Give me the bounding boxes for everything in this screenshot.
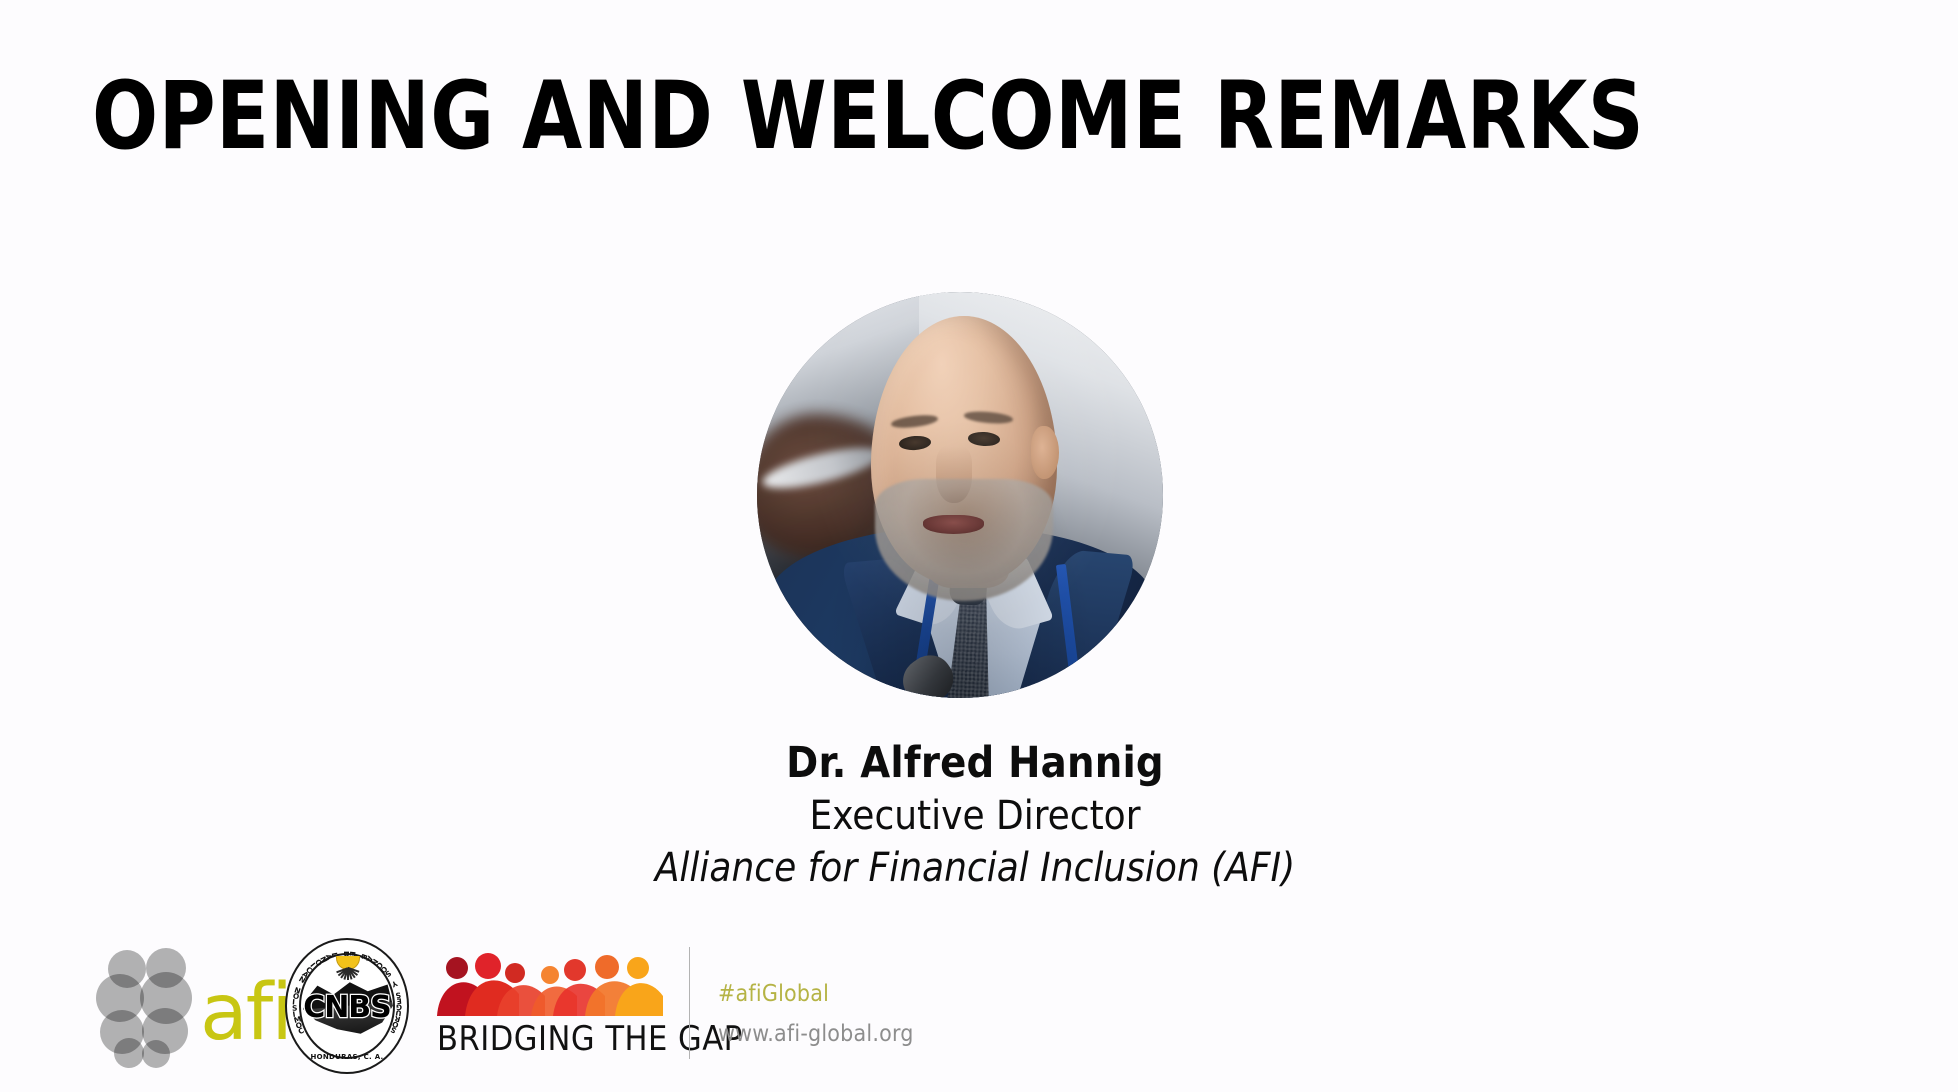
cnbs-ring-char: S	[383, 969, 393, 979]
footer-contact: #afiGlobal www.afi-global.org	[718, 977, 914, 1051]
bridging-the-gap-logo: BRIDGING THE GAP	[435, 950, 665, 1072]
speaker-details: Dr. Alfred Hannig Executive Director All…	[360, 738, 1590, 892]
people-bridge-icon	[435, 950, 665, 1018]
speaker-portrait	[757, 292, 1163, 698]
speaker-photo	[757, 292, 1163, 698]
photo-mouth	[923, 515, 984, 534]
slide-footer: afi COMISIÓN NACIONAL DE BANCOS Y SEGURO…	[0, 932, 1958, 1092]
afi-logo-mark-icon	[96, 948, 200, 1073]
bridging-the-gap-wordmark: BRIDGING THE GAP	[437, 1022, 743, 1056]
footer-website-url[interactable]: www.afi-global.org	[718, 1017, 914, 1052]
speaker-role: Executive Director	[360, 792, 1590, 841]
cnbs-logo: COMISIÓN NACIONAL DE BANCOS Y SEGUROS CN…	[285, 938, 409, 1074]
speaker-organization: Alliance for Financial Inclusion (AFI)	[360, 844, 1590, 893]
speaker-name: Dr. Alfred Hannig	[360, 738, 1590, 789]
cnbs-monogram: CNBS	[285, 990, 409, 1025]
presentation-slide: OPENING AND WELCOME REMARKS	[0, 0, 1958, 1092]
footer-hashtag: #afiGlobal	[718, 977, 914, 1012]
page-title: OPENING AND WELCOME REMARKS	[92, 68, 1644, 167]
cnbs-ring-char: Y	[390, 979, 399, 989]
footer-divider	[689, 947, 690, 1059]
afi-logo-wordmark: afi	[200, 974, 291, 1052]
cnbs-country-label: HONDURAS, C. A.	[285, 1053, 409, 1061]
